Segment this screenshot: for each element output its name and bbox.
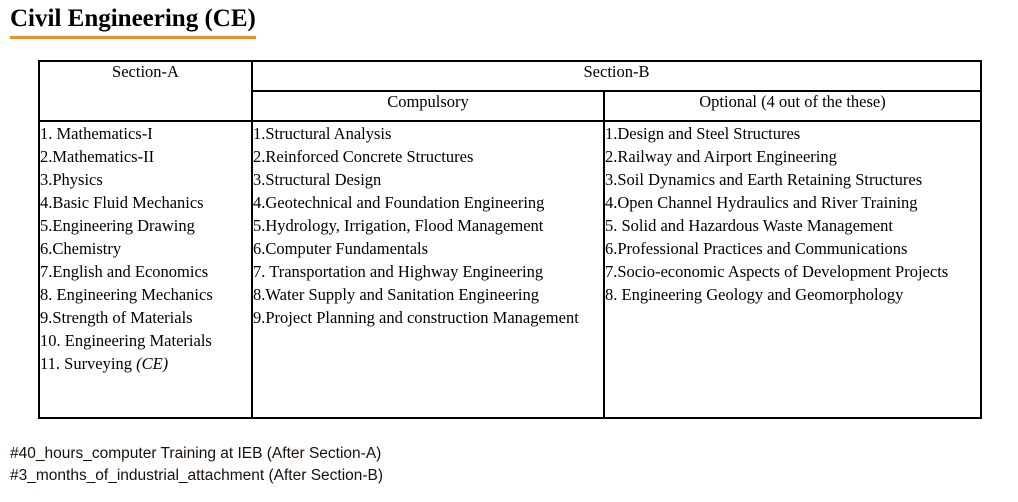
header-section-b: Section-B	[252, 61, 981, 91]
list-item: 7.English and Economics	[40, 260, 251, 283]
cell-section-a: 1. Mathematics-I2.Mathematics-II3.Physic…	[39, 121, 252, 418]
note-item-2: #3_months_of_industrial_attachment (Afte…	[10, 465, 383, 487]
optional-list: 1.Design and Steel Structures2.Railway a…	[605, 122, 980, 306]
list-item: 2.Reinforced Concrete Structures	[253, 145, 603, 168]
list-item: 1.Design and Steel Structures	[605, 122, 980, 145]
table-header-row-1: Section-A Section-B	[39, 61, 981, 91]
footer-notes: #40_hours_computer Training at IEB (Afte…	[10, 443, 383, 487]
list-item: 2.Mathematics-II	[40, 145, 251, 168]
list-item: 5.Engineering Drawing	[40, 214, 251, 237]
list-item: 9.Strength of Materials	[40, 306, 251, 329]
list-item: 2.Railway and Airport Engineering	[605, 145, 980, 168]
header-optional: Optional (4 out of the these)	[604, 91, 981, 121]
syllabus-table: Section-A Section-B Compulsory Optional …	[38, 60, 982, 419]
list-item: 10. Engineering Materials	[40, 329, 251, 352]
list-item: 1. Mathematics-I	[40, 122, 251, 145]
header-section-a: Section-A	[39, 61, 252, 121]
list-item: 4.Basic Fluid Mechanics	[40, 191, 251, 214]
list-item: 3.Physics	[40, 168, 251, 191]
list-item: 6.Chemistry	[40, 237, 251, 260]
list-item-note: (CE)	[136, 354, 168, 373]
page-title: Civil Engineering (CE)	[10, 4, 256, 39]
compulsory-list: 1.Structural Analysis2.Reinforced Concre…	[253, 122, 603, 329]
list-item: 11. Surveying (CE)	[40, 352, 251, 375]
list-item: 8.Water Supply and Sanitation Engineerin…	[253, 283, 603, 306]
list-item: 7. Transportation and Highway Engineerin…	[253, 260, 603, 283]
list-item: 1.Structural Analysis	[253, 122, 603, 145]
list-item: 3.Soil Dynamics and Earth Retaining Stru…	[605, 168, 980, 191]
section-a-list: 1. Mathematics-I2.Mathematics-II3.Physic…	[40, 122, 251, 375]
list-item: 8. Engineering Mechanics	[40, 283, 251, 306]
cell-compulsory: 1.Structural Analysis2.Reinforced Concre…	[252, 121, 604, 418]
list-item: 4.Geotechnical and Foundation Engineerin…	[253, 191, 603, 214]
list-item: 6.Computer Fundamentals	[253, 237, 603, 260]
list-item: 6.Professional Practices and Communicati…	[605, 237, 980, 260]
list-item: 5.Hydrology, Irrigation, Flood Managemen…	[253, 214, 603, 237]
list-item: 4.Open Channel Hydraulics and River Trai…	[605, 191, 980, 214]
cell-optional: 1.Design and Steel Structures2.Railway a…	[604, 121, 981, 418]
list-item: 5. Solid and Hazardous Waste Management	[605, 214, 980, 237]
list-item: 3.Structural Design	[253, 168, 603, 191]
list-item: 9.Project Planning and construction Mana…	[253, 306, 603, 329]
list-item: 7.Socio-economic Aspects of Development …	[605, 260, 980, 283]
list-item: 8. Engineering Geology and Geomorphology	[605, 283, 980, 306]
header-compulsory: Compulsory	[252, 91, 604, 121]
table-body-row: 1. Mathematics-I2.Mathematics-II3.Physic…	[39, 121, 981, 418]
note-item-1: #40_hours_computer Training at IEB (Afte…	[10, 443, 383, 465]
